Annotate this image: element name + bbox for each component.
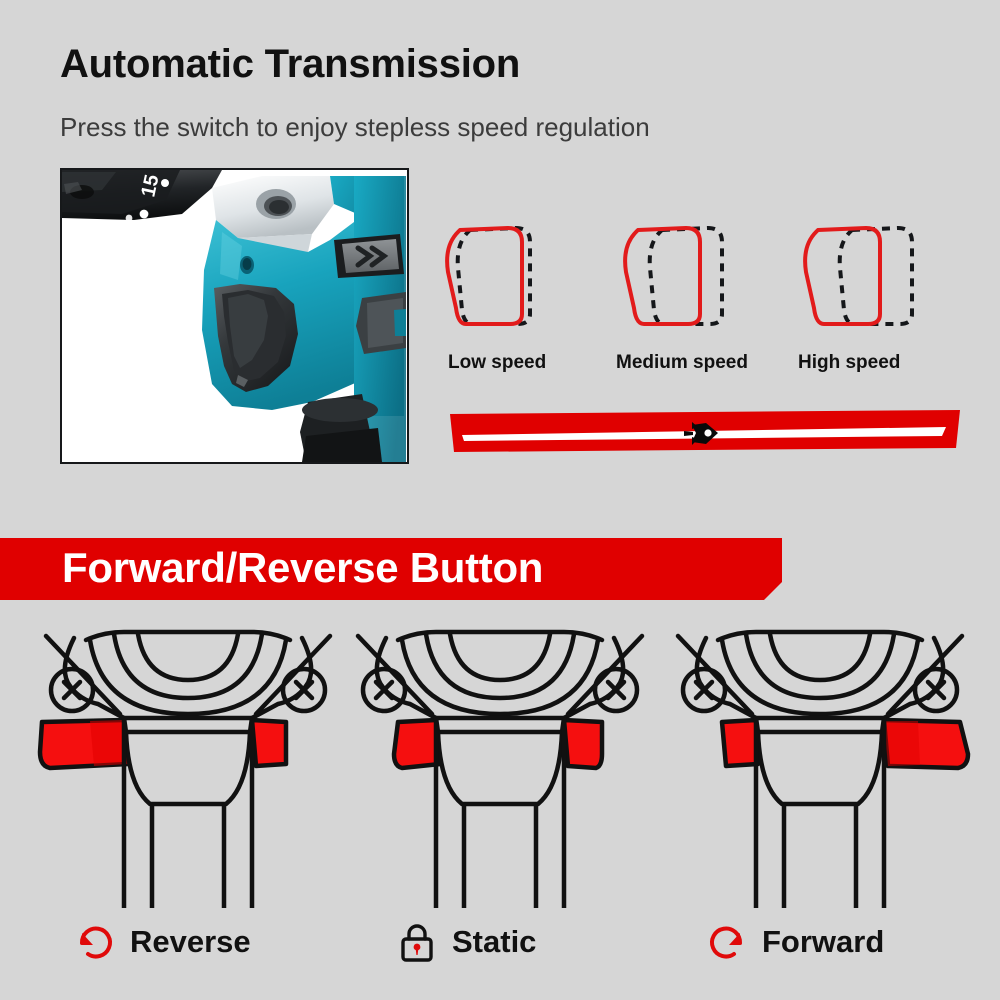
- direction-cell-static: Static: [340, 618, 660, 1000]
- direction-cell-forward: Forward: [660, 618, 980, 1000]
- trigger-label-low: Low speed: [448, 352, 623, 374]
- direction-caption-forward: Forward: [706, 914, 1000, 970]
- direction-label-forward: Forward: [762, 924, 884, 960]
- direction-button-nub-left: [722, 720, 758, 766]
- drill-top-view-static: [340, 618, 660, 908]
- trigger-diagram-low: Low speed: [438, 218, 613, 393]
- trigger-dashed-outline: [458, 228, 530, 324]
- rotate-clockwise-icon: [706, 921, 748, 963]
- rotate-counterclockwise-icon: [74, 921, 116, 963]
- infographic-page: Automatic Transmission Press the switch …: [0, 0, 1000, 1000]
- trigger-red-outline: [625, 228, 700, 324]
- trigger-label-medium: Medium speed: [616, 352, 791, 374]
- direction-button-nub-right: [884, 720, 968, 768]
- direction-button-nub-right: [252, 720, 286, 766]
- speed-select-button: [334, 234, 404, 278]
- trigger-label-high: High speed: [798, 352, 973, 374]
- direction-cell-reverse: Reverse: [28, 618, 348, 1000]
- direction-button-nub-left: [40, 720, 128, 768]
- trigger-position-diagrams: Low speed Medium speed High speed: [430, 218, 970, 393]
- direction-button-nub-right: [564, 720, 602, 768]
- direction-label-static: Static: [452, 924, 536, 960]
- drill-top-view-reverse: [28, 618, 348, 908]
- lock-icon: [396, 921, 438, 963]
- trigger-diagram-medium: Medium speed: [616, 218, 791, 393]
- trigger-dashed-outline: [840, 228, 912, 324]
- drill-photo-panel: 15: [60, 168, 409, 464]
- drill-top-view-forward: [660, 618, 980, 908]
- trigger-dashed-outline: [650, 228, 722, 324]
- speed-slider[interactable]: [450, 410, 960, 454]
- page-title: Automatic Transmission: [60, 42, 520, 87]
- direction-button-nub-left: [394, 720, 440, 768]
- direction-label-reverse: Reverse: [130, 924, 251, 960]
- page-subtitle: Press the switch to enjoy stepless speed…: [60, 112, 650, 143]
- direction-diagrams: Reverse: [0, 618, 1000, 1000]
- banner-title: Forward/Reverse Button: [62, 538, 543, 600]
- trigger-diagram-high: High speed: [796, 218, 971, 393]
- forward-reverse-banner: Forward/Reverse Button: [0, 538, 782, 600]
- clutch-number: 15: [137, 173, 163, 199]
